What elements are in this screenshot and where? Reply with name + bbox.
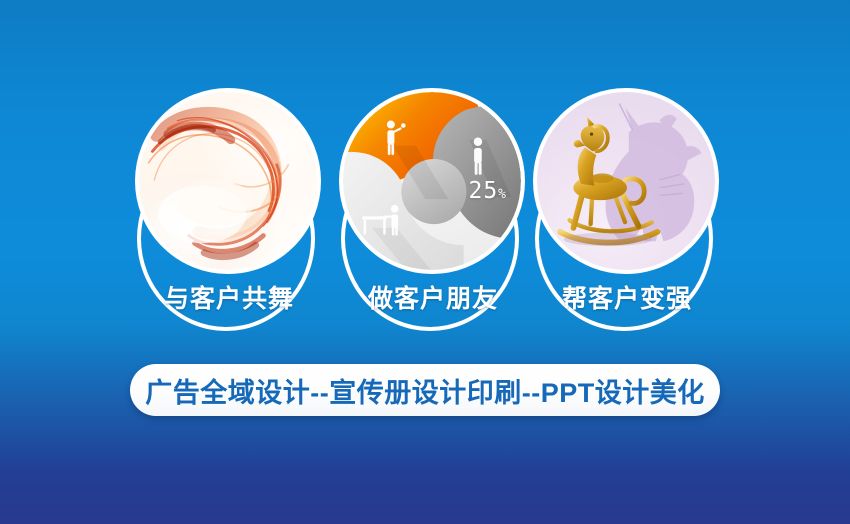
card-caption-accent: 变强	[640, 285, 692, 313]
percent-label: 25%	[468, 178, 507, 204]
card-caption-lead: 与客户	[164, 285, 242, 313]
feature-card[interactable]: 与客户共舞	[129, 88, 329, 338]
slide-canvas: 与客户共舞	[0, 0, 850, 524]
feature-card-group: 与客户共舞	[0, 88, 850, 338]
card-photo-circle	[135, 88, 321, 274]
card-caption-accent: 朋友	[446, 285, 498, 313]
card-caption: 帮客户变强	[527, 284, 727, 314]
card-caption: 与客户共舞	[129, 284, 329, 314]
card-caption-accent: 共舞	[242, 285, 294, 313]
golden-rocking-horse-icon	[537, 92, 715, 270]
card-photo-circle	[533, 88, 719, 274]
infographic-blobs-icon: 25%	[343, 92, 521, 270]
feature-card[interactable]: 25% 做客户朋友	[333, 88, 533, 338]
bottom-banner-text: 广告全域设计--宣传册设计印刷--PPT设计美化	[145, 371, 704, 410]
orange-smoke-swirl-icon	[139, 92, 317, 270]
feature-card[interactable]: 帮客户变强	[527, 88, 727, 338]
percent-value: 25	[468, 178, 498, 204]
card-photo-circle: 25%	[339, 88, 525, 274]
card-caption-lead: 帮客户	[562, 285, 640, 313]
card-caption-lead: 做客户	[368, 285, 446, 313]
bottom-banner[interactable]: 广告全域设计--宣传册设计印刷--PPT设计美化	[130, 364, 720, 416]
card-caption: 做客户朋友	[333, 284, 533, 314]
percent-symbol: %	[498, 187, 507, 202]
